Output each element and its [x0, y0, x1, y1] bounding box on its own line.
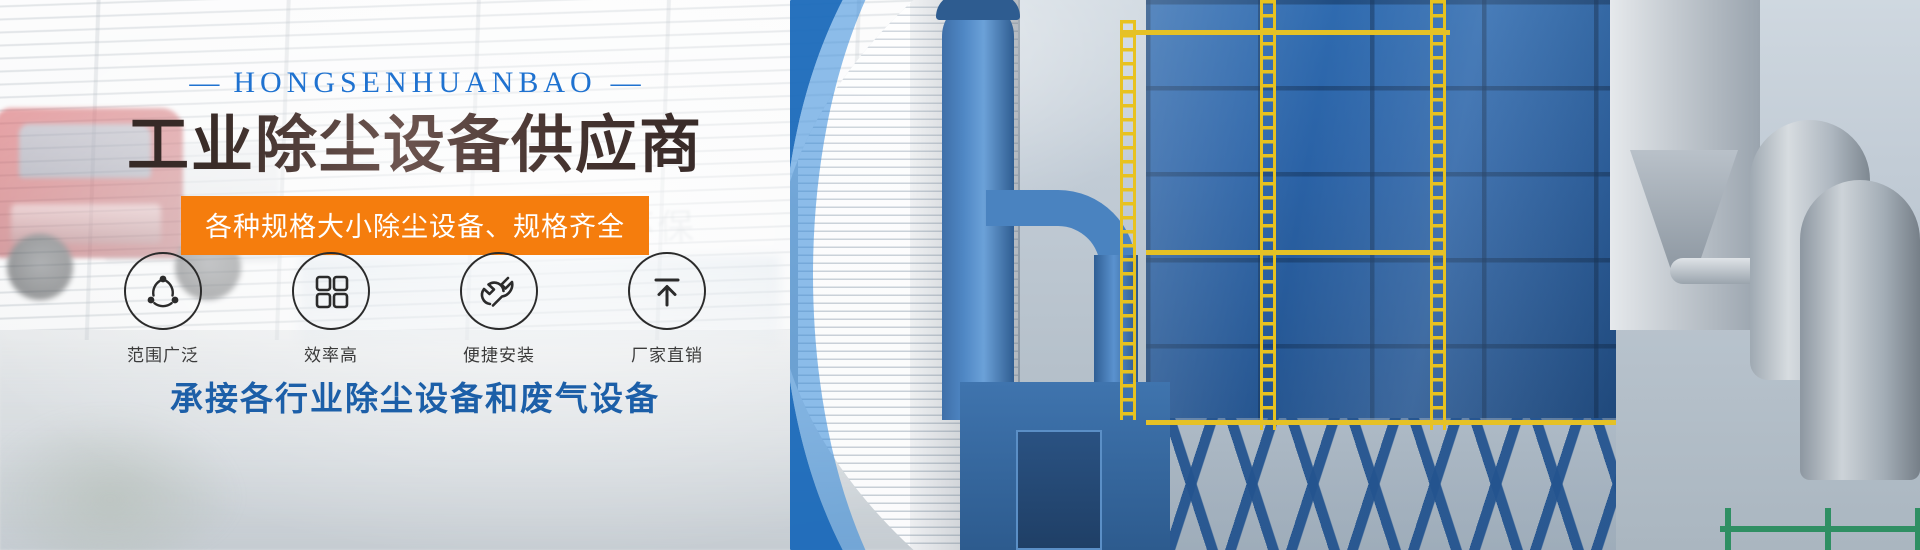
- eyebrow-text: HONGSENHUANBAO: [233, 66, 596, 99]
- photo-curved-clip: [790, 0, 1920, 550]
- green-guardrail-post: [1915, 508, 1920, 550]
- brand-eyebrow: —HONGSENHUANBAO—: [0, 66, 830, 100]
- feature-label: 效率高: [269, 341, 393, 366]
- equipment-photo-panel: [790, 0, 1920, 550]
- hero-banner: 环保: [0, 0, 1920, 550]
- grid-squares-icon: [292, 252, 370, 330]
- handrail: [1146, 420, 1616, 425]
- wrench-icon: [460, 252, 538, 330]
- feature-item-efficiency[interactable]: 效率高: [269, 252, 393, 366]
- hero-content: —HONGSENHUANBAO— 工业除尘设备供应商 各种规格大小除尘设备、规格…: [0, 0, 830, 550]
- green-guardrail-post: [1825, 508, 1831, 550]
- feature-item-direct-sales[interactable]: 厂家直销: [605, 252, 729, 366]
- cyclone-separator: [1800, 180, 1920, 480]
- handrail: [1120, 30, 1450, 35]
- feature-item-installation[interactable]: 便捷安装: [437, 252, 561, 366]
- subtitle-badge: 各种规格大小除尘设备、规格齐全: [181, 196, 649, 255]
- feature-list: 范围广泛 效率高: [0, 252, 830, 366]
- baghouse-support-frame: [1146, 418, 1616, 550]
- tagline: 承接各行业除尘设备和废气设备: [0, 372, 830, 420]
- safety-ladder: [1120, 20, 1136, 420]
- eyebrow-dash-right: —: [597, 66, 655, 99]
- feature-item-scope[interactable]: 范围广泛: [101, 252, 225, 366]
- safety-ladder: [1260, 0, 1276, 430]
- handrail: [1146, 250, 1446, 255]
- feature-label: 厂家直销: [605, 341, 729, 366]
- feature-label: 范围广泛: [101, 341, 225, 366]
- silo-cap: [936, 0, 1020, 20]
- arrow-up-bar-icon: [628, 252, 706, 330]
- green-guardrail-post: [1725, 508, 1731, 550]
- headline: 工业除尘设备供应商: [0, 110, 830, 181]
- network-nodes-icon: [124, 252, 202, 330]
- eyebrow-dash-left: —: [175, 66, 233, 99]
- feature-label: 便捷安装: [437, 341, 561, 366]
- access-door: [1016, 430, 1102, 550]
- baghouse-highlight: [1146, 0, 1616, 420]
- equipment-photo: [790, 0, 1920, 550]
- green-guardrail: [1720, 526, 1920, 532]
- safety-ladder: [1430, 0, 1446, 430]
